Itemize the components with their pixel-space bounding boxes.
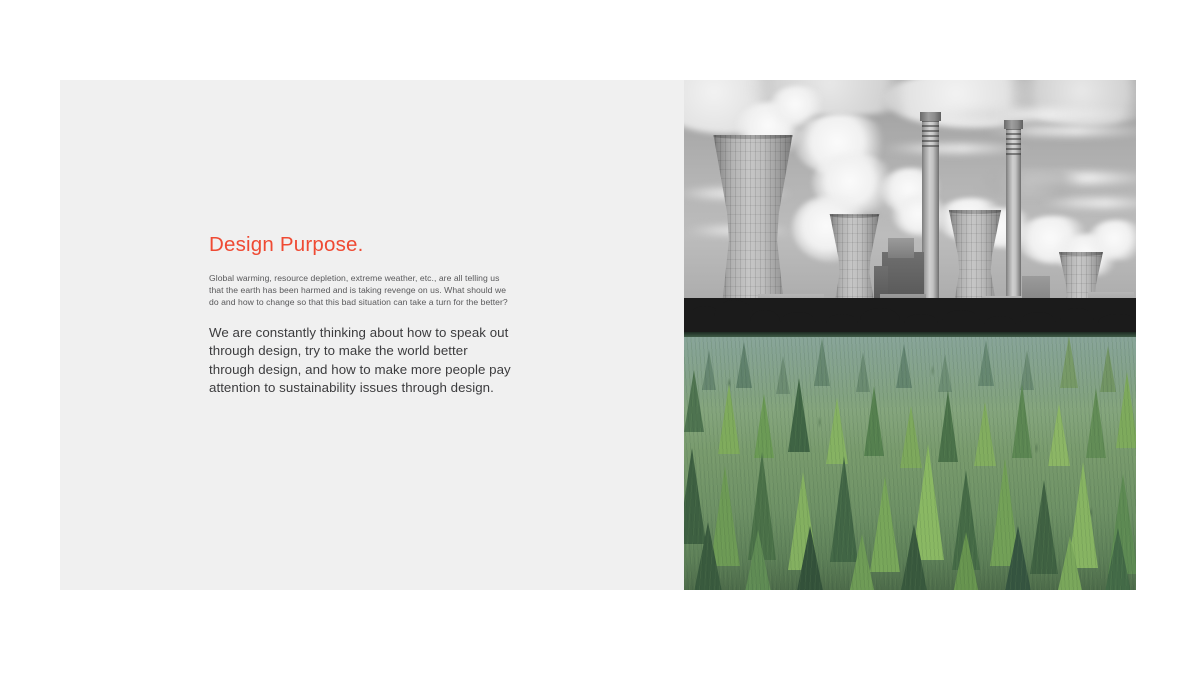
plant-building bbox=[888, 238, 914, 258]
cloud-streak bbox=[934, 108, 1136, 121]
intro-paragraph: Global warming, resource depletion, extr… bbox=[209, 272, 515, 309]
forest-canopy bbox=[684, 332, 1136, 590]
canopy-texture bbox=[684, 332, 1136, 590]
treeline-bump bbox=[942, 310, 980, 332]
treeline-bump bbox=[714, 300, 754, 332]
text-block: Design Purpose. Global warming, resource… bbox=[209, 232, 519, 398]
stack-bands bbox=[922, 121, 939, 147]
treeline-bump bbox=[1020, 312, 1056, 332]
statement-paragraph: We are constantly thinking about how to … bbox=[209, 324, 515, 398]
power-plant-photo bbox=[684, 80, 1136, 332]
smokestack-left bbox=[922, 112, 939, 312]
page-title: Design Purpose. bbox=[209, 232, 519, 258]
stack-cap bbox=[1004, 120, 1023, 129]
treeline-bump bbox=[860, 308, 900, 332]
treeline-bump bbox=[984, 316, 1016, 332]
treeline-bump bbox=[1060, 308, 1094, 332]
smokestack-right bbox=[1006, 120, 1021, 310]
forest-top-edge bbox=[684, 332, 1136, 337]
cloud-shape bbox=[964, 168, 1094, 198]
slide-canvas: Design Purpose. Global warming, resource… bbox=[0, 0, 1200, 675]
image-stack bbox=[684, 80, 1136, 590]
stack-cap bbox=[920, 112, 941, 121]
treeline-bump bbox=[780, 312, 816, 332]
treeline-bump bbox=[1098, 314, 1136, 332]
stack-bands bbox=[1006, 129, 1021, 155]
treeline-bump bbox=[750, 310, 780, 332]
forest-photo bbox=[684, 332, 1136, 590]
treeline-bump bbox=[826, 314, 858, 332]
treeline-bump bbox=[904, 314, 938, 332]
